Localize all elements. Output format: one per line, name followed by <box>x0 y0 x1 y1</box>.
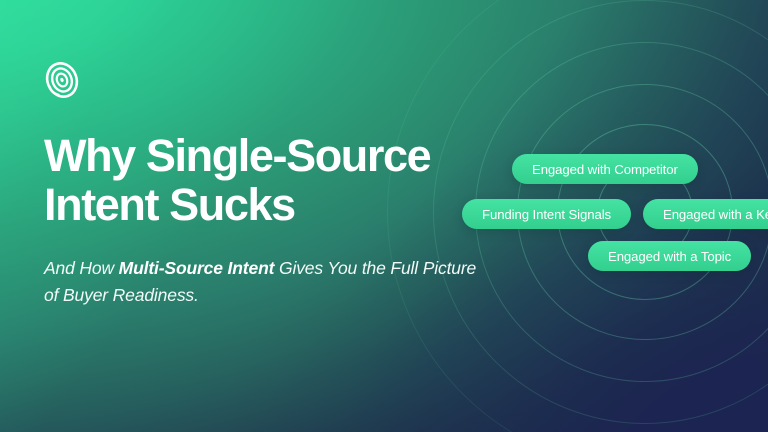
intent-signal-pill-competitor[interactable]: Engaged with Competitor <box>512 154 698 184</box>
slide-subtitle: And How Multi-Source Intent Gives You th… <box>44 255 484 308</box>
subtitle-emphasis: Multi-Source Intent <box>119 258 275 278</box>
intent-signal-pill-funding[interactable]: Funding Intent Signals <box>462 199 631 229</box>
presentation-slide: Why Single-Source Intent Sucks And How M… <box>0 0 768 432</box>
slide-copy-block: Why Single-Source Intent Sucks And How M… <box>44 132 494 308</box>
page-title: Why Single-Source Intent Sucks <box>44 132 494 229</box>
intent-signal-pill-topic[interactable]: Engaged with a Topic <box>588 241 751 271</box>
spiral-target-logo-icon <box>41 59 83 101</box>
subtitle-lead: And How <box>44 258 119 278</box>
intent-signal-pill-keyword[interactable]: Engaged with a Ke <box>643 199 768 229</box>
